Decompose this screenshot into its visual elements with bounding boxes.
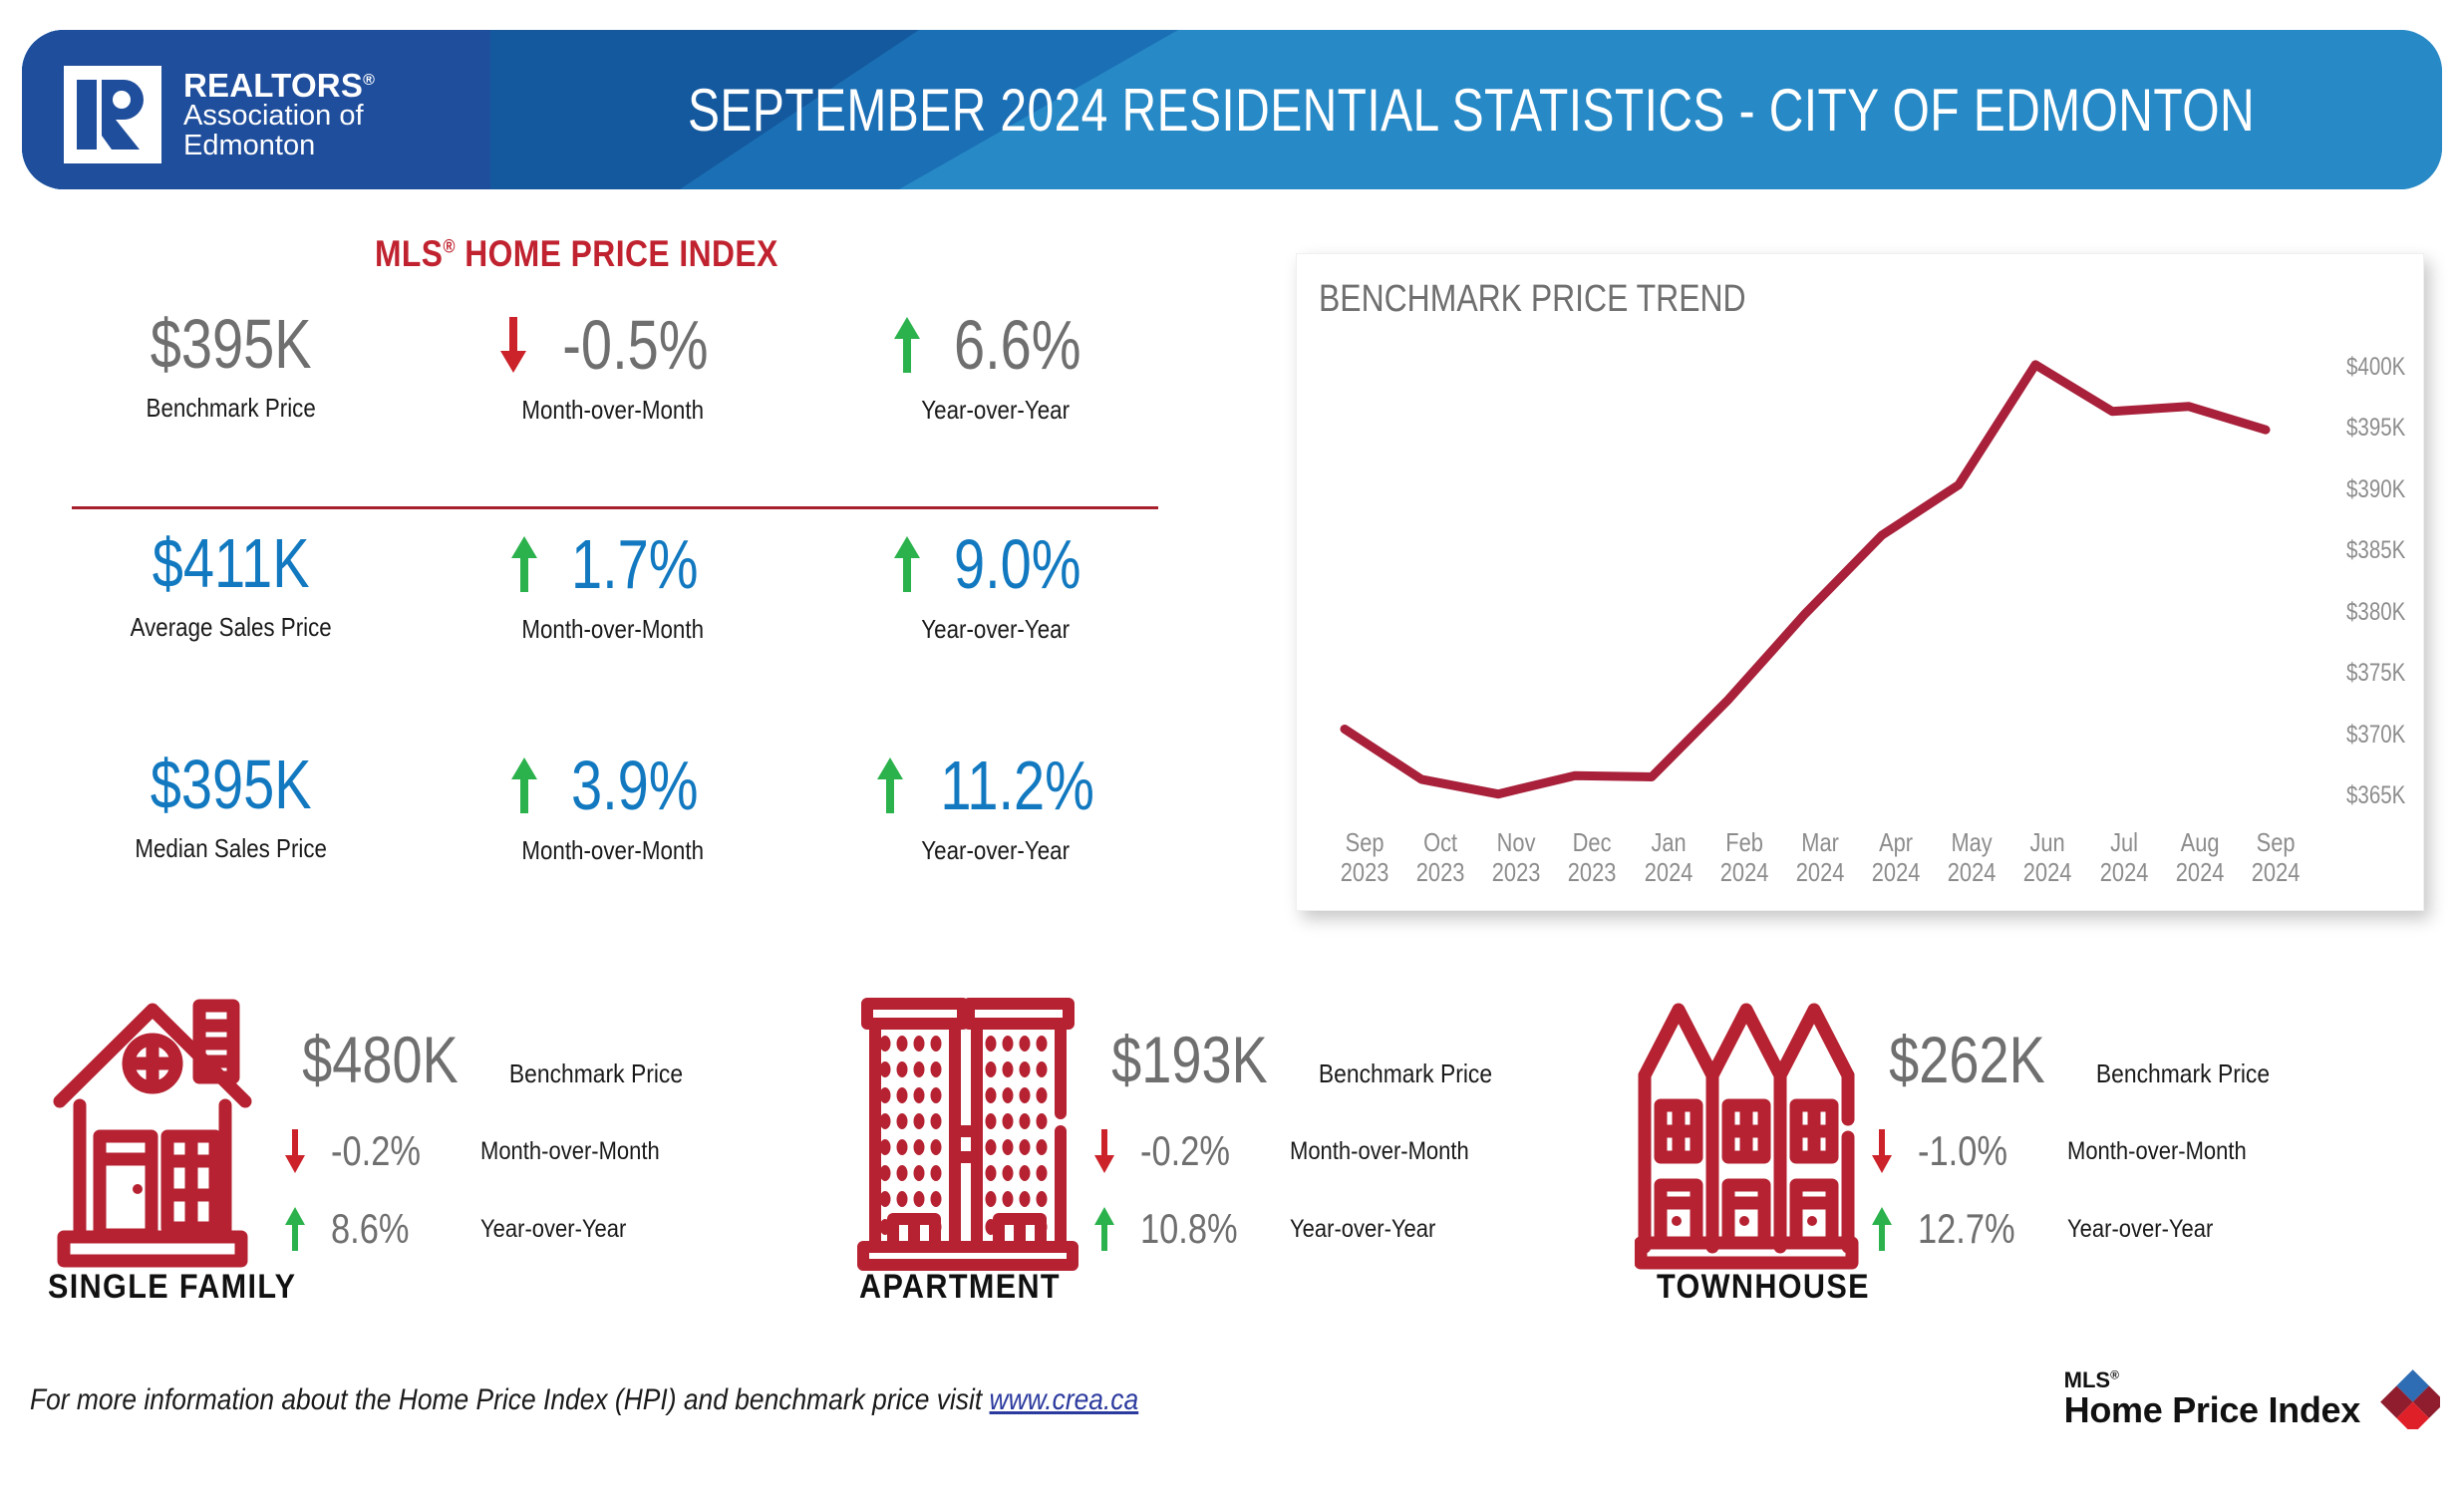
townhouse-price: $262K [1889, 1022, 2045, 1097]
hpi-row-average: $411K Average Sales Price 1.7% Month-ove… [40, 528, 1186, 645]
chart-x-tick-year: 2023 [1333, 857, 1396, 888]
apartment-yoy-label: Year-over-Year [1290, 1215, 1435, 1244]
single-family-yoy: 8.6% Year-over-Year [285, 1205, 695, 1253]
hpi-median-value: $395K [78, 750, 384, 819]
chart-x-tick-year: 2024 [2092, 857, 2156, 888]
hpi-benchmark-yoy-cell: 6.6% Year-over-Year [804, 309, 1186, 426]
single-family-yoy-label: Year-over-Year [480, 1215, 626, 1244]
arrow-down-icon [1872, 1129, 1892, 1173]
chart-x-tick: May2024 [1940, 827, 2003, 888]
infographic-page: REALTORS® Association of Edmonton SEPTEM… [0, 0, 2464, 1511]
townhouse-mom-label: Month-over-Month [2067, 1137, 2247, 1166]
arrow-up-icon [1094, 1207, 1114, 1251]
single-family-mom-value: -0.2% [331, 1127, 454, 1175]
townhouse-yoy: 12.7% Year-over-Year [1872, 1205, 2282, 1253]
hpi-section-title: MLS® HOME PRICE INDEX [375, 233, 778, 275]
chart-x-tick-year: 2023 [1484, 857, 1548, 888]
hpi-average-value: $411K [78, 528, 384, 598]
house-icon [48, 982, 277, 1281]
hpi-benchmark-yoy-label: Year-over-Year [830, 395, 1159, 426]
hpi-median-yoy-value: 11.2% [940, 751, 1094, 820]
hpi-benchmark-label: Benchmark Price [67, 393, 396, 424]
hpi-median-mom-cell: 3.9% Month-over-Month [422, 750, 803, 866]
chart-x-tick-year: 2023 [1408, 857, 1472, 888]
townhouse-mom-value: -1.0% [1918, 1127, 2040, 1175]
page-title: SEPTEMBER 2024 RESIDENTIAL STATISTICS - … [727, 30, 2216, 189]
hpi-average-label: Average Sales Price [67, 612, 396, 643]
single-family-title: SINGLE FAMILY [48, 1268, 296, 1307]
chart-x-tick-month: Sep [1333, 827, 1396, 858]
chart-x-tick-year: 2024 [2015, 857, 2079, 888]
arrow-up-icon [285, 1207, 305, 1251]
apartment-stats: $193K Benchmark Price -0.2% Month-over-M… [1094, 982, 1504, 1253]
apartment-yoy-value: 10.8% [1140, 1205, 1263, 1253]
chart-x-tick-month: Jun [2015, 827, 2079, 858]
chart-x-tick: Aug2024 [2168, 827, 2232, 888]
chart-y-tick: $395K [2346, 414, 2405, 443]
chart-x-tick: Apr2024 [1864, 827, 1928, 888]
chart-x-tick-month: Mar [1788, 827, 1852, 858]
chart-x-tick-month: Oct [1408, 827, 1472, 858]
hpi-benchmark-mom-cell: -0.5% Month-over-Month [422, 309, 803, 426]
hpi-average-mom-value: 1.7% [571, 529, 699, 599]
chart-y-axis-labels: $400K$395K$390K$385K$380K$375K$370K$365K [2286, 344, 2405, 822]
townhouse-yoy-value: 12.7% [1918, 1205, 2040, 1253]
mls-home-price-index-logo: MLS® Home Price Index [2064, 1363, 2440, 1434]
single-family-price: $480K [302, 1022, 459, 1097]
hpi-row-benchmark: $395K Benchmark Price -0.5% Month-over-M… [40, 309, 1186, 426]
townhouse-mom: -1.0% Month-over-Month [1872, 1127, 2282, 1175]
hpi-median-mom-label: Month-over-Month [449, 835, 777, 866]
chart-x-tick-year: 2024 [2244, 857, 2308, 888]
single-family-mom: -0.2% Month-over-Month [285, 1127, 695, 1175]
chart-x-tick: Jan2024 [1637, 827, 1700, 888]
chart-x-tick-month: Aug [2168, 827, 2232, 858]
hpi-title-mls: MLS [375, 233, 443, 274]
chart-x-tick-year: 2024 [1940, 857, 2003, 888]
chart-x-tick-month: Jul [2092, 827, 2156, 858]
hpi-benchmark-value: $395K [78, 309, 384, 379]
hpi-average-mom-label: Month-over-Month [449, 614, 777, 645]
arrow-up-icon [894, 317, 920, 373]
crea-link[interactable]: www.crea.ca [990, 1383, 1139, 1416]
apartment-mom: -0.2% Month-over-Month [1094, 1127, 1504, 1175]
chart-x-tick-month: Jan [1637, 827, 1700, 858]
arrow-up-icon [511, 536, 537, 592]
townhouse-price-label: Benchmark Price [2096, 1058, 2270, 1089]
hpi-benchmark-yoy-value: 6.6% [953, 310, 1080, 380]
logo-registered-mark: ® [363, 72, 375, 89]
chart-x-tick: Sep2023 [1333, 827, 1396, 888]
footer-note-text: For more information about the Home Pric… [30, 1383, 990, 1416]
townhouse-stats: $262K Benchmark Price -1.0% Month-over-M… [1872, 982, 2282, 1253]
chart-x-tick-year: 2024 [1637, 857, 1700, 888]
hpi-median-yoy-cell: 11.2% Year-over-Year [804, 750, 1186, 866]
hpi-diamond-icon [2374, 1363, 2440, 1434]
chart-x-tick: Feb2024 [1712, 827, 1776, 888]
hpi-title-rest: HOME PRICE INDEX [456, 233, 778, 274]
chart-x-tick-month: Dec [1561, 827, 1625, 858]
townhouse-row-icon [1635, 982, 1864, 1281]
chart-x-tick-month: May [1940, 827, 2003, 858]
hpi-average-mom-cell: 1.7% Month-over-Month [422, 528, 803, 645]
property-type-townhouse: $262K Benchmark Price -1.0% Month-over-M… [1635, 982, 2282, 1281]
chart-y-tick: $390K [2346, 475, 2405, 504]
chart-x-tick: Sep2024 [2244, 827, 2308, 888]
chart-x-tick: Oct2023 [1408, 827, 1472, 888]
townhouse-title: TOWNHOUSE [1657, 1268, 1870, 1307]
arrow-up-icon [1872, 1207, 1892, 1251]
chart-x-tick-year: 2024 [1864, 857, 1928, 888]
single-family-stats: $480K Benchmark Price -0.2% Month-over-M… [285, 982, 695, 1253]
apartment-yoy: 10.8% Year-over-Year [1094, 1205, 1504, 1253]
realtors-r-mark-icon [64, 66, 161, 163]
logo-line1: REALTORS [183, 67, 363, 104]
arrow-down-icon [1094, 1129, 1114, 1173]
chart-x-tick: Jun2024 [2015, 827, 2079, 888]
chart-y-tick: $375K [2346, 659, 2405, 688]
apartment-mom-value: -0.2% [1140, 1127, 1263, 1175]
apartment-mom-label: Month-over-Month [1290, 1137, 1469, 1166]
hpi-median-yoy-label: Year-over-Year [830, 835, 1159, 866]
chart-x-tick-year: 2024 [1712, 857, 1776, 888]
hpi-title-registered: ® [443, 237, 455, 258]
logo-line3: Edmonton [183, 132, 375, 161]
hpi-divider [72, 506, 1158, 509]
hpi-benchmark-mom-value: -0.5% [562, 310, 708, 380]
chart-x-tick: Nov2023 [1484, 827, 1548, 888]
logo-line2: Association of [183, 102, 375, 132]
hpi-median-mom-value: 3.9% [571, 751, 699, 820]
chart-plot-area [1327, 344, 2284, 822]
hpi-benchmark-mom-label: Month-over-Month [449, 395, 777, 426]
chart-x-tick-month: Feb [1712, 827, 1776, 858]
mls-logo-line2: Home Price Index [2064, 1391, 2360, 1429]
chart-y-tick: $380K [2346, 598, 2405, 627]
chart-x-tick-month: Sep [2244, 827, 2308, 858]
chart-x-axis-labels: Sep2023Oct2023Nov2023Dec2023Jan2024Feb20… [1327, 827, 2313, 888]
chart-x-tick-year: 2023 [1561, 857, 1625, 888]
chart-y-tick: $385K [2346, 536, 2405, 565]
hpi-average-value-cell: $411K Average Sales Price [40, 528, 422, 645]
realtors-logo-text: REALTORS® Association of Edmonton [183, 69, 375, 161]
chart-x-tick-month: Nov [1484, 827, 1548, 858]
hpi-median-label: Median Sales Price [67, 833, 396, 864]
arrow-down-icon [285, 1129, 305, 1173]
property-type-apartment: $193K Benchmark Price -0.2% Month-over-M… [857, 982, 1504, 1281]
realtors-association-logo: REALTORS® Association of Edmonton [64, 66, 375, 163]
chart-y-tick: $400K [2346, 353, 2405, 382]
chart-x-tick-year: 2024 [2168, 857, 2232, 888]
chart-x-tick-year: 2024 [1788, 857, 1852, 888]
chart-y-tick: $365K [2346, 781, 2405, 810]
hpi-average-yoy-value: 9.0% [953, 529, 1080, 599]
chart-x-tick: Mar2024 [1788, 827, 1852, 888]
mls-logo-registered: ® [2110, 1368, 2119, 1382]
chart-x-tick-month: Apr [1864, 827, 1928, 858]
arrow-up-icon [511, 757, 537, 813]
mls-logo-text: MLS® Home Price Index [2064, 1368, 2360, 1429]
hpi-median-value-cell: $395K Median Sales Price [40, 750, 422, 866]
header-banner: REALTORS® Association of Edmonton SEPTEM… [22, 30, 2442, 189]
hpi-benchmark-value-cell: $395K Benchmark Price [40, 309, 422, 426]
chart-title: BENCHMARK PRICE TREND [1319, 278, 1746, 321]
hpi-average-yoy-cell: 9.0% Year-over-Year [804, 528, 1186, 645]
hpi-average-yoy-label: Year-over-Year [830, 614, 1159, 645]
apartment-price: $193K [1111, 1022, 1268, 1097]
apartment-towers-icon [857, 982, 1086, 1281]
benchmark-trend-line [1327, 344, 2284, 822]
hpi-row-median: $395K Median Sales Price 3.9% Month-over… [40, 750, 1186, 866]
apartment-price-label: Benchmark Price [1319, 1058, 1492, 1089]
arrow-down-icon [500, 317, 526, 373]
arrow-up-icon [877, 757, 903, 813]
benchmark-price-trend-card: BENCHMARK PRICE TREND $400K$395K$390K$38… [1296, 253, 2424, 911]
property-type-single-family: $480K Benchmark Price -0.2% Month-over-M… [48, 982, 695, 1281]
arrow-up-icon [894, 536, 920, 592]
single-family-price-label: Benchmark Price [509, 1058, 683, 1089]
single-family-mom-label: Month-over-Month [480, 1137, 660, 1166]
apartment-title: APARTMENT [859, 1268, 1061, 1307]
single-family-yoy-value: 8.6% [331, 1205, 454, 1253]
townhouse-yoy-label: Year-over-Year [2067, 1215, 2213, 1244]
chart-y-tick: $370K [2346, 721, 2405, 750]
chart-x-tick: Dec2023 [1561, 827, 1625, 888]
chart-x-tick: Jul2024 [2092, 827, 2156, 888]
footer-note: For more information about the Home Pric… [30, 1383, 1138, 1417]
